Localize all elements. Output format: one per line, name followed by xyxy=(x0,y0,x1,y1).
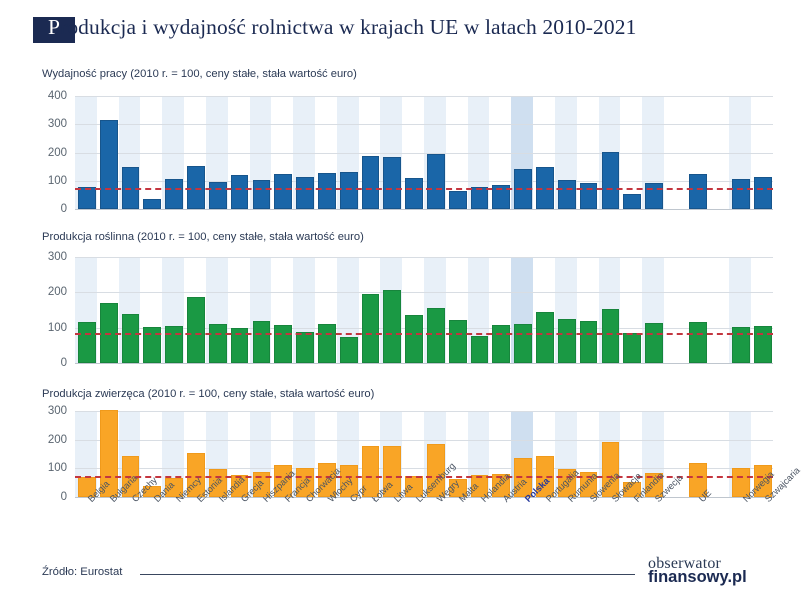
logo-line-2: finansowy.pl xyxy=(648,569,768,586)
gridline xyxy=(75,440,773,441)
bar[interactable] xyxy=(536,312,554,363)
y-tick-label: 0 xyxy=(61,357,67,369)
bar[interactable] xyxy=(296,177,314,209)
bar[interactable] xyxy=(296,332,314,363)
bar[interactable] xyxy=(623,333,641,363)
bar[interactable] xyxy=(165,326,183,363)
gridline xyxy=(75,209,773,210)
bar[interactable] xyxy=(689,322,707,363)
bar[interactable] xyxy=(449,191,467,209)
bar[interactable] xyxy=(383,290,401,363)
reference-line xyxy=(75,476,773,478)
bar[interactable] xyxy=(209,324,227,363)
bar[interactable] xyxy=(471,336,489,363)
bar[interactable] xyxy=(318,173,336,209)
bar[interactable] xyxy=(754,177,772,210)
y-tick-label: 300 xyxy=(48,405,67,417)
gridline xyxy=(75,468,773,469)
bar[interactable] xyxy=(427,154,445,209)
y-tick-label: 200 xyxy=(48,434,67,446)
page-title: Produkcja i wydajność rolnictwa w krajac… xyxy=(48,15,636,40)
bar[interactable] xyxy=(645,323,663,363)
plot-area-2: 0100200300 xyxy=(75,257,773,363)
bar[interactable] xyxy=(558,319,576,363)
gridline xyxy=(75,96,773,97)
footer-rule xyxy=(140,574,635,575)
bar[interactable] xyxy=(623,194,641,209)
bar[interactable] xyxy=(558,180,576,209)
bar[interactable] xyxy=(340,172,358,209)
title-capital: P xyxy=(48,15,60,39)
chart-panel-2: Produkcja roślinna (2010 r. = 100, ceny … xyxy=(0,231,805,369)
chart-page: Produkcja i wydajność rolnictwa w krajac… xyxy=(0,0,805,608)
y-tick-label: 200 xyxy=(48,147,67,159)
gridline xyxy=(75,124,773,125)
bar[interactable] xyxy=(318,324,336,363)
y-tick-label: 300 xyxy=(48,118,67,130)
bar[interactable] xyxy=(340,337,358,363)
gridline xyxy=(75,363,773,364)
y-tick-label: 0 xyxy=(61,203,67,215)
y-tick-label: 100 xyxy=(48,462,67,474)
bar[interactable] xyxy=(209,182,227,209)
y-tick-label: 0 xyxy=(61,491,67,503)
reference-line xyxy=(75,333,773,335)
bar[interactable] xyxy=(165,179,183,209)
bar[interactable] xyxy=(100,120,118,209)
bar[interactable] xyxy=(449,320,467,363)
y-axis-ticks-2: 0100200300 xyxy=(39,257,69,363)
bar[interactable] xyxy=(427,308,445,363)
bar[interactable] xyxy=(514,324,532,363)
panel-title-1: Wydajność pracy (2010 r. = 100, ceny sta… xyxy=(42,68,357,80)
bar[interactable] xyxy=(689,174,707,209)
title-rest: rodukcja i wydajność rolnictwa w krajach… xyxy=(60,15,636,39)
bar[interactable] xyxy=(187,297,205,363)
obserwator-finansowy-logo[interactable]: obserwator finansowy.pl xyxy=(648,556,768,586)
bar[interactable] xyxy=(362,156,380,209)
bar[interactable] xyxy=(602,309,620,363)
bar[interactable] xyxy=(143,199,161,209)
bar[interactable] xyxy=(405,315,423,363)
gridline xyxy=(75,257,773,258)
footer: Źródło: Eurostat obserwator finansowy.pl xyxy=(0,560,805,608)
bar[interactable] xyxy=(78,322,96,363)
bar[interactable] xyxy=(492,325,510,363)
bar[interactable] xyxy=(274,174,292,209)
chart-panel-1: Wydajność pracy (2010 r. = 100, ceny sta… xyxy=(0,68,805,215)
y-axis-ticks-3: 0100200300 xyxy=(39,411,69,497)
y-tick-label: 200 xyxy=(48,286,67,298)
bar[interactable] xyxy=(580,321,598,363)
bar[interactable] xyxy=(405,178,423,209)
bar[interactable] xyxy=(122,314,140,363)
bar[interactable] xyxy=(471,187,489,209)
bar[interactable] xyxy=(274,325,292,363)
plot-area-1: 0100200300400 xyxy=(75,96,773,209)
gridline xyxy=(75,153,773,154)
y-tick-label: 300 xyxy=(48,251,67,263)
bar[interactable] xyxy=(602,152,620,209)
gridline xyxy=(75,411,773,412)
title-bar: Produkcja i wydajność rolnictwa w krajac… xyxy=(0,0,805,56)
y-axis-ticks-1: 0100200300400 xyxy=(39,96,69,209)
bar[interactable] xyxy=(78,187,96,209)
bar[interactable] xyxy=(253,180,271,209)
bar[interactable] xyxy=(362,294,380,363)
y-tick-label: 100 xyxy=(48,322,67,334)
y-tick-label: 100 xyxy=(48,175,67,187)
bar[interactable] xyxy=(732,179,750,209)
bar[interactable] xyxy=(231,175,249,209)
y-tick-label: 400 xyxy=(48,90,67,102)
panel-title-3: Produkcja zwierzęca (2010 r. = 100, ceny… xyxy=(42,388,374,400)
reference-line xyxy=(75,188,773,190)
bar[interactable] xyxy=(383,157,401,209)
source-note: Źródło: Eurostat xyxy=(42,566,122,578)
bar[interactable] xyxy=(253,321,271,363)
gridline xyxy=(75,292,773,293)
panel-title-2: Produkcja roślinna (2010 r. = 100, ceny … xyxy=(42,231,364,243)
